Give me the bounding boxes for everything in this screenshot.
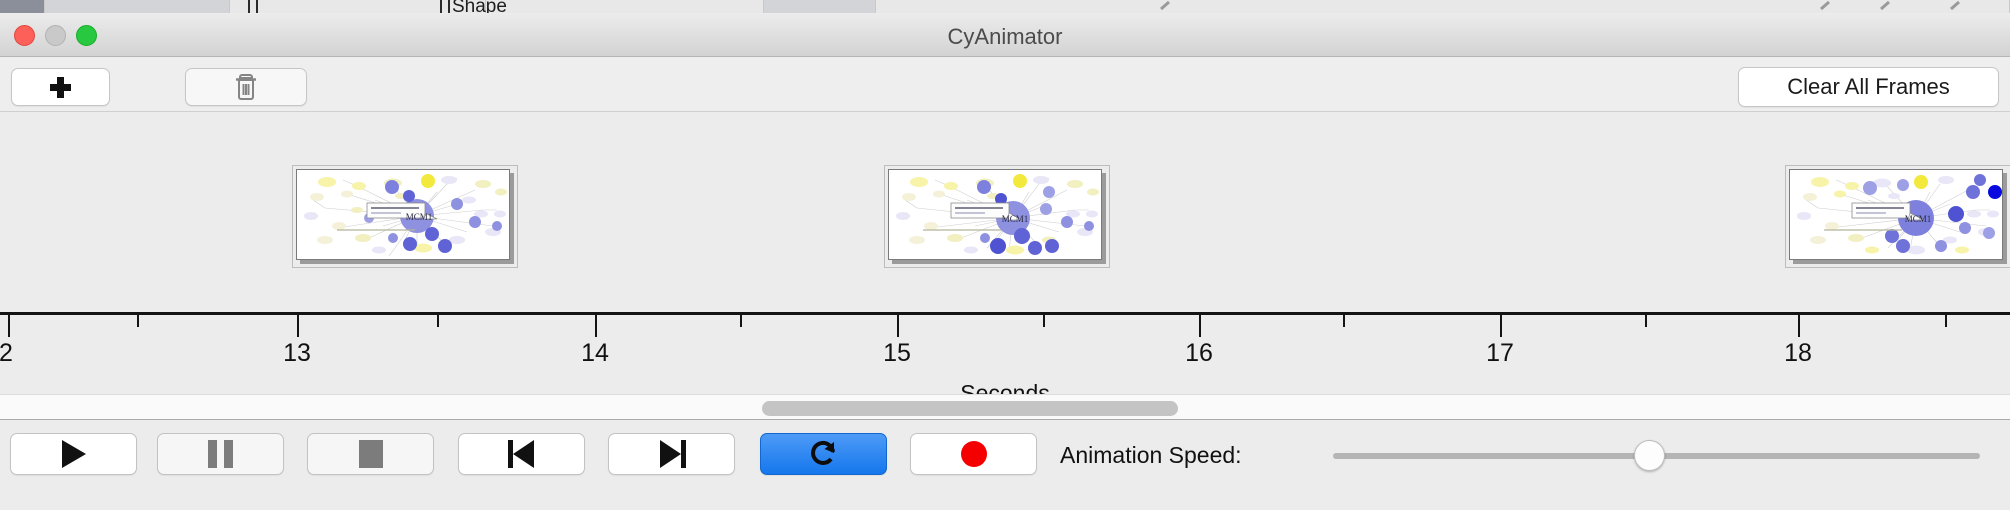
play-button[interactable] [10,433,137,475]
ruler-tick-minor [1343,315,1345,327]
bg-window-label: Shape [452,0,507,14]
bg-arrow-icon [1880,1,1896,11]
ruler-label: 15 [883,339,911,368]
ruler-tick-minor [1043,315,1045,327]
skip-back-icon [508,440,536,468]
ruler-label: 17 [1486,339,1514,368]
plus-icon [50,77,71,98]
title-bar: CyAnimator [0,13,2010,57]
loop-button[interactable] [760,433,887,475]
frames-area[interactable]: MCM1 [0,112,2010,312]
ruler-tick-major [1798,315,1800,337]
svg-text:MCM1: MCM1 [406,212,433,222]
pause-icon [208,440,233,468]
stop-button[interactable] [307,433,434,475]
ruler-tick-major [897,315,899,337]
trash-icon [233,72,259,102]
playback-controls: Animation Speed: [0,420,2010,490]
ruler-tick-major [1199,315,1201,337]
frame-thumbnail-2[interactable]: MCM1 [888,169,1106,264]
bg-arrow-icon [1820,1,1836,11]
network-thumbnail-icon: MCM1 [889,170,1102,260]
bg-divider [248,0,250,13]
bg-segment [876,0,2010,14]
ruler-axis-line [0,312,2010,315]
record-button[interactable] [910,433,1037,475]
bg-divider [440,0,442,13]
cyanimator-window: CyAnimator Clear All Frames [0,13,2010,510]
frame-thumbnail-3[interactable]: MCM1 [1789,169,2007,264]
skip-forward-icon [658,440,686,468]
bg-segment [486,0,764,14]
delete-frame-button[interactable] [185,68,307,106]
frame-thumbnail-1[interactable]: MCM1 [296,169,514,264]
ruler-tick-major [297,315,299,337]
stop-icon [359,440,383,468]
scrollbar-thumb[interactable] [762,401,1178,416]
bg-arrow-icon [1160,1,1176,11]
timeline-panel[interactable]: MCM1 [0,112,2010,420]
frame-image: MCM1 [296,169,510,260]
skip-to-start-button[interactable] [458,433,585,475]
animation-speed-label: Animation Speed: [1060,442,1242,469]
svg-text:MCM1: MCM1 [1905,214,1932,224]
ruler-label: 16 [1185,339,1213,368]
background-window-strip: Shape [0,0,2010,14]
window-title: CyAnimator [0,24,2010,50]
bg-segment [0,0,45,14]
animation-speed-slider-knob[interactable] [1634,440,1665,471]
loop-icon [809,439,839,469]
ruler-tick-minor [740,315,742,327]
bg-divider [448,0,450,13]
ruler-label: 18 [1784,339,1812,368]
network-thumbnail-icon: MCM1 [1790,170,2003,260]
ruler-label: 13 [283,339,311,368]
pause-button[interactable] [157,433,284,475]
svg-text:MCM1: MCM1 [1002,214,1029,224]
bg-arrow-icon [1950,1,1966,11]
ruler-tick-minor [437,315,439,327]
ruler-tick-major [8,315,10,337]
bg-divider [256,0,258,13]
ruler-tick-major [1500,315,1502,337]
ruler-tick-minor [1645,315,1647,327]
toolbar: Clear All Frames [0,57,2010,112]
clear-all-frames-button[interactable]: Clear All Frames [1738,67,1999,107]
ruler-tick-major [595,315,597,337]
bg-segment [764,0,876,14]
bg-segment [45,0,230,14]
ruler-label: 14 [581,339,609,368]
add-frame-button[interactable] [11,68,110,106]
record-icon [961,441,987,467]
ruler-label: 2 [0,339,13,368]
frame-image: MCM1 [888,169,1102,260]
frame-image: MCM1 [1789,169,2003,260]
timeline-scrollbar[interactable] [0,394,2010,420]
network-thumbnail-icon: MCM1 [297,170,510,260]
ruler-tick-minor [1945,315,1947,327]
play-icon [62,440,86,468]
ruler-tick-minor [137,315,139,327]
skip-to-end-button[interactable] [608,433,735,475]
